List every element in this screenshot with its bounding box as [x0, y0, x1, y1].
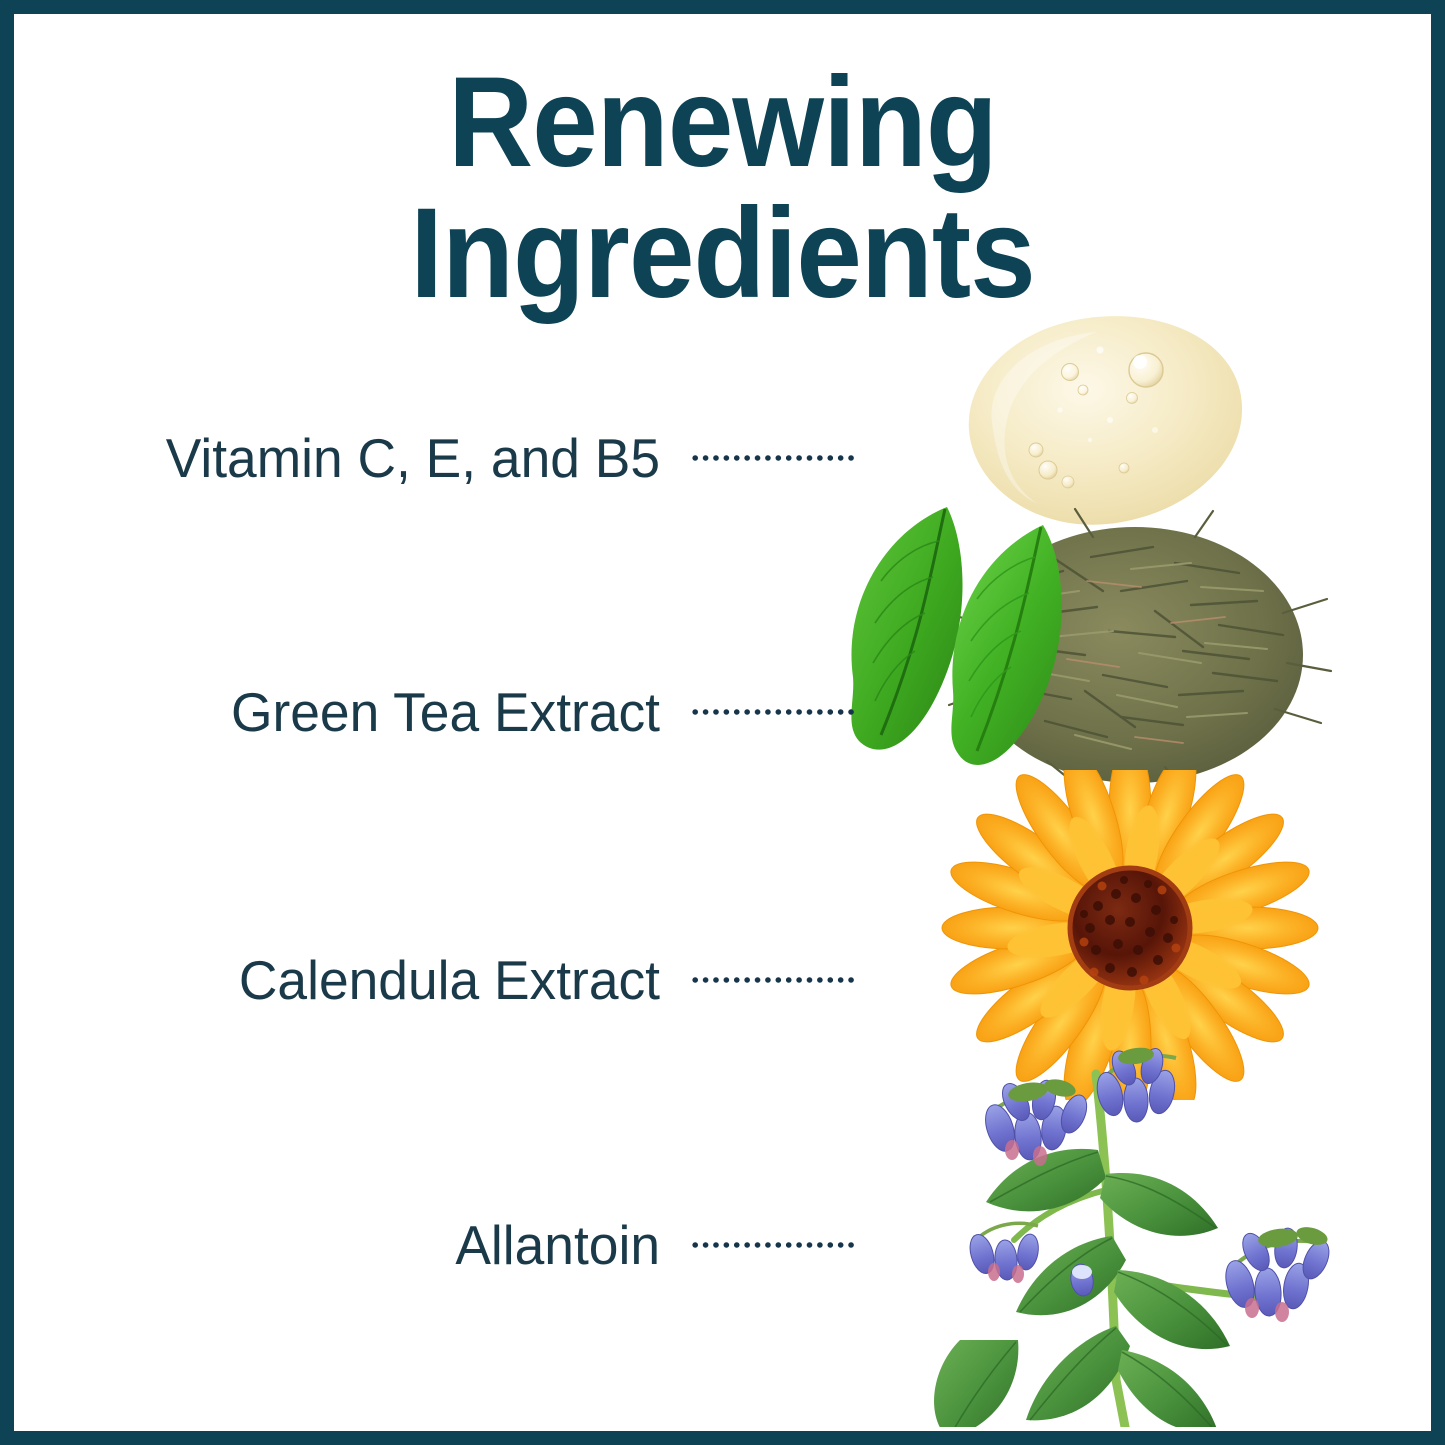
ingredient-label-green-tea: Green Tea Extract [78, 685, 660, 740]
dotted-leader-icon [690, 454, 856, 462]
ingredient-row: Calendula Extract [60, 940, 870, 1020]
page-title-line-2: Ingredients [58, 189, 1387, 320]
dotted-leader-icon [690, 1241, 856, 1249]
ingredient-row: Vitamin C, E, and B5 [60, 418, 870, 498]
page-title-line-1: Renewing [58, 58, 1387, 189]
ingredient-label-allantoin: Allantoin [78, 1218, 660, 1273]
ingredient-row: Green Tea Extract [60, 672, 870, 752]
page-title: Renewing Ingredients [0, 58, 1445, 319]
comfrey-plant-image [930, 1040, 1350, 1440]
ingredient-row: Allantoin [60, 1205, 870, 1285]
ingredients-infographic: Renewing Ingredients Vitamin C, E, and B… [0, 0, 1445, 1445]
ingredient-label-vitamins: Vitamin C, E, and B5 [78, 431, 660, 486]
ingredient-imagery-column [835, 300, 1435, 1435]
dotted-leader-icon [690, 708, 856, 716]
dotted-leader-icon [690, 976, 856, 984]
ingredient-label-calendula: Calendula Extract [78, 953, 660, 1008]
